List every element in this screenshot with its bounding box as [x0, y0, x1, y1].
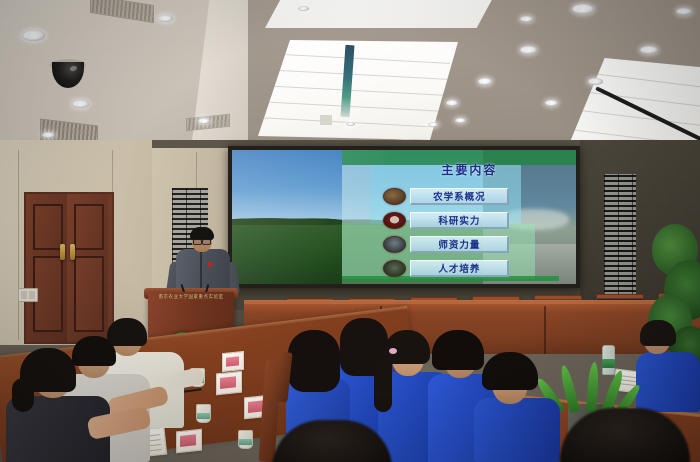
slide-bullet-label: 师资力量 [410, 236, 509, 253]
downlight [640, 46, 658, 54]
speaker-glasses-icon [193, 238, 211, 243]
fixture-base [320, 115, 332, 125]
name-card[interactable] [222, 351, 244, 372]
slide-bullet-thumbnail-icon [383, 212, 406, 229]
water-bottle[interactable] [602, 345, 615, 375]
downlight [72, 100, 89, 108]
downlight [428, 122, 438, 127]
slide-bullet-label: 科研实力 [410, 212, 509, 229]
podium-banner-text: 南京农业大学国家重点实验室 [152, 294, 230, 300]
projection-screen: 主要内容 农学系概况 科研实力 师资力量 人才培养 [232, 150, 576, 284]
slide-bullet-thumbnail-icon [383, 188, 406, 205]
name-card[interactable] [216, 371, 242, 396]
door-handle-secondary[interactable] [70, 244, 75, 260]
slide-bullet-row: 农学系概况 [383, 188, 509, 205]
slide-bullet-row: 科研实力 [383, 212, 509, 229]
ceiling [0, 0, 700, 152]
speaker-badge [208, 262, 212, 267]
door-handle[interactable] [60, 244, 65, 260]
downlight [455, 118, 466, 123]
downlight [42, 132, 55, 138]
door-leaf-left[interactable] [26, 194, 67, 342]
downlight [545, 100, 558, 106]
door[interactable] [24, 192, 114, 344]
name-card[interactable] [176, 429, 202, 454]
slide-bullet-thumbnail-icon [383, 236, 406, 253]
door-leaf-right[interactable] [67, 194, 108, 342]
slide-band-pale [342, 165, 370, 224]
downlight [520, 16, 533, 22]
ceiling-light-panel-top [265, 0, 495, 28]
downlight [520, 46, 537, 54]
slide-bullet-label: 农学系概况 [410, 188, 509, 205]
slide-bullet-row: 师资力量 [383, 236, 509, 253]
paper-cup[interactable] [238, 430, 253, 449]
downlight [478, 78, 492, 85]
downlight [588, 78, 603, 85]
downlight [572, 4, 594, 14]
downlight [346, 122, 355, 126]
slide-bullet-thumbnail-icon [383, 260, 406, 277]
downlight [198, 118, 210, 124]
slide-bullet-label: 人才培养 [410, 260, 509, 277]
slide-title: 主要内容 [390, 161, 548, 178]
downlight [22, 30, 45, 41]
conference-room-scene: 主要内容 农学系概况 科研实力 师资力量 人才培养 [0, 0, 700, 462]
hair-clip-icon [389, 348, 397, 354]
paper-cup[interactable] [196, 404, 211, 423]
light-switch-plate[interactable] [18, 288, 38, 302]
downlight [676, 8, 692, 15]
downlight [298, 6, 309, 11]
downlight [446, 100, 458, 106]
downlight [158, 15, 173, 22]
slide-bullet-row: 人才培养 [383, 260, 509, 277]
